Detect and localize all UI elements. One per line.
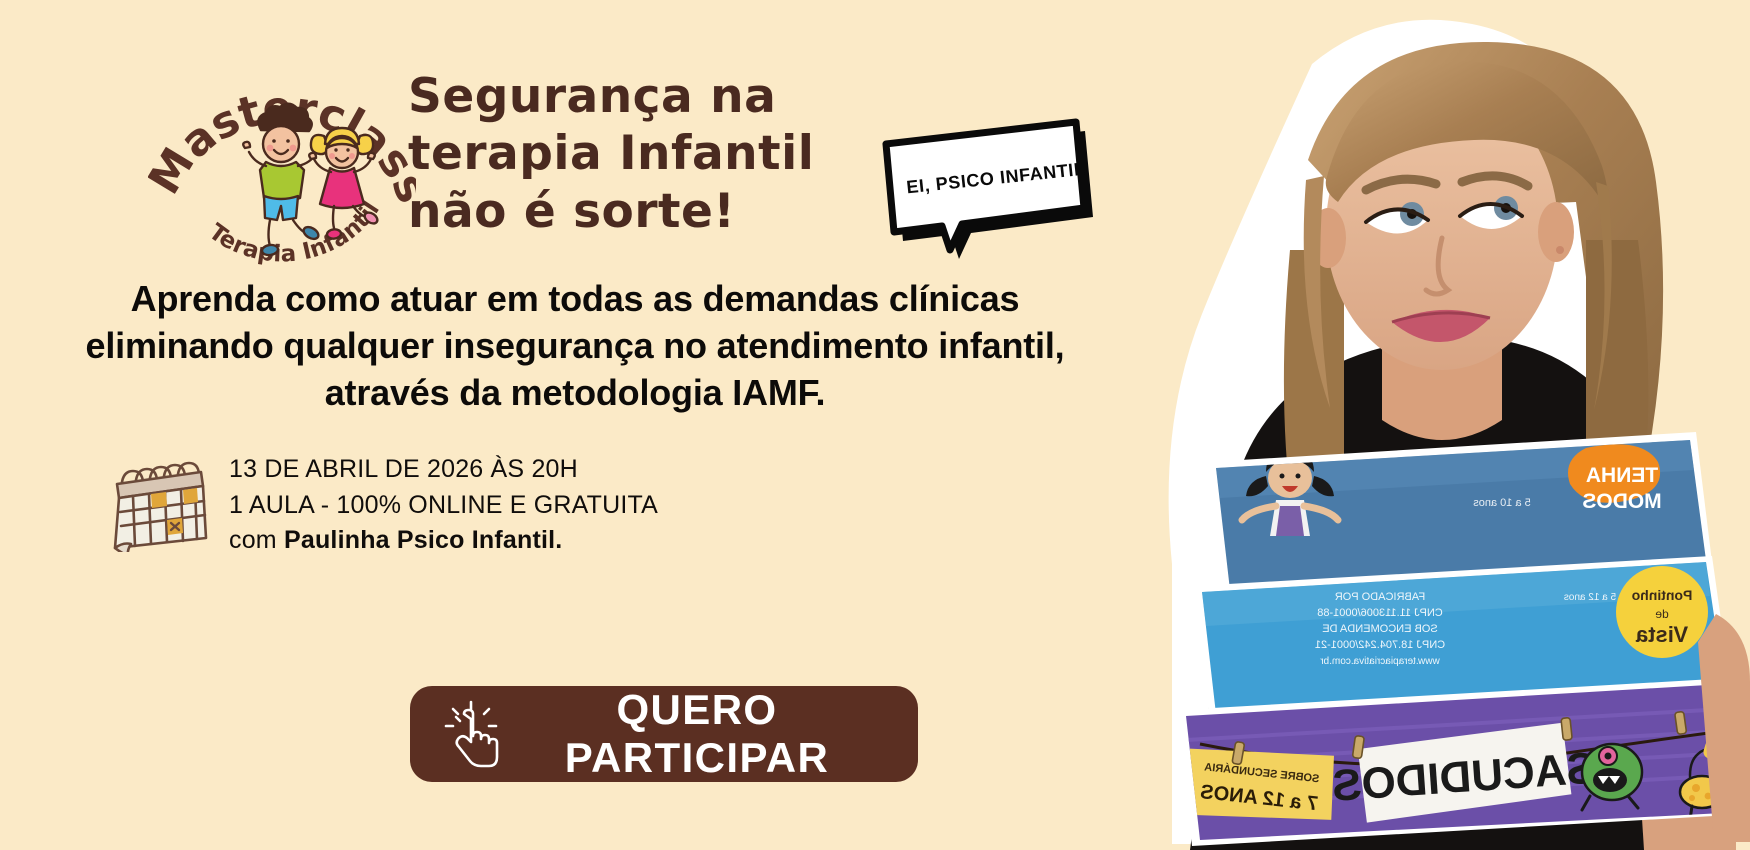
box1-label-line2: MODOS — [1582, 490, 1661, 513]
svg-text:FABRICADO POR: FABRICADO POR — [1335, 591, 1426, 603]
headline-line-2: terapia Infantil — [408, 125, 878, 182]
svg-text:SOB ENCOMENDA DE: SOB ENCOMENDA DE — [1322, 623, 1438, 635]
host-prefix: com — [229, 526, 284, 554]
box2-age-label: 5 a 12 anos — [1564, 592, 1616, 603]
subtitle: Aprenda como atuar em todas as demandas … — [60, 276, 1090, 416]
subtitle-line-3: através da metodologia IAMF. — [60, 370, 1090, 417]
quero-participar-button[interactable]: QUERO PARTICIPAR — [410, 686, 918, 782]
box1-label-line1: TENHA — [1586, 464, 1658, 487]
calendar-icon — [105, 458, 211, 552]
presenter-photo: TENHA MODOS 5 a 10 anos — [990, 0, 1750, 850]
box2-badge-line2: de — [1655, 607, 1669, 621]
masterclass-promo-banner: Masterclass Terapia Infantil — [0, 0, 1750, 850]
presenter-earring — [1556, 246, 1564, 254]
host-name: Paulinha Psico Infantil. — [284, 526, 562, 554]
svg-text:CNPJ 11.113006/0001-88: CNPJ 11.113006/0001-88 — [1317, 607, 1443, 619]
event-details: 13 DE ABRIL DE 2026 ÀS 20H 1 AULA - 100%… — [105, 452, 658, 559]
headline-line-1: Segurança na — [408, 68, 878, 125]
event-format: 1 AULA - 100% ONLINE E GRATUITA — [229, 488, 658, 524]
presenter-ear-right — [1538, 202, 1574, 262]
box2-badge-line1: Pontinho — [1632, 587, 1693, 603]
subtitle-line-1: Aprenda como atuar em todas as demandas … — [60, 276, 1090, 323]
event-host: com Paulinha Psico Infantil. — [229, 523, 658, 559]
svg-text:CNPJ 18.704.242/0001-21: CNPJ 18.704.242/0001-21 — [1315, 639, 1445, 651]
click-hand-icon — [440, 699, 510, 769]
svg-text:www.terapiacriativa.com.br: www.terapiacriativa.com.br — [1320, 656, 1441, 667]
box2-badge-line3: Vista — [1635, 622, 1688, 647]
event-info-text: 13 DE ABRIL DE 2026 ÀS 20H 1 AULA - 100%… — [229, 452, 658, 559]
event-date: 13 DE ABRIL DE 2026 ÀS 20H — [229, 452, 658, 488]
cta-button-label: QUERO PARTICIPAR — [510, 686, 918, 782]
headline-line-3: não é sorte! — [408, 183, 878, 240]
masterclass-logo: Masterclass Terapia Infantil — [148, 48, 416, 288]
subtitle-line-2: eliminando qualquer insegurança no atend… — [60, 323, 1090, 370]
page-title: Segurança na terapia Infantil não é sort… — [408, 68, 878, 240]
box1-age-label: 5 a 10 anos — [1473, 497, 1531, 509]
